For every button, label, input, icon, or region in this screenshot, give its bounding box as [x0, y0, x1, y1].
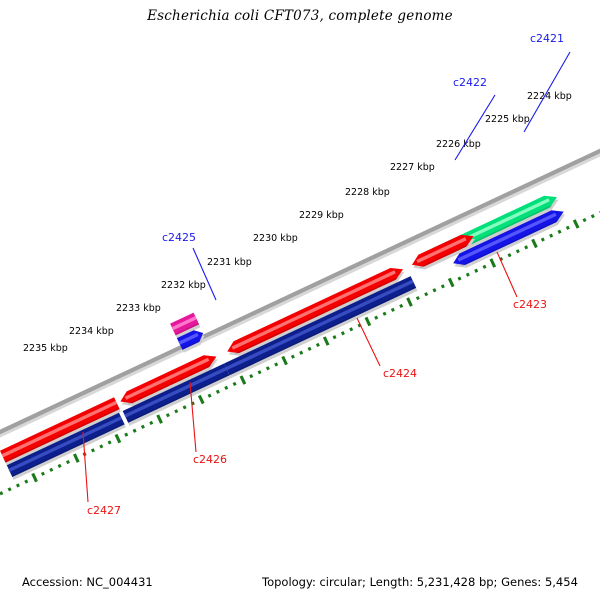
scale-tick-label: 2232 kbp: [161, 280, 206, 291]
scale-tick-label: 2231 kbp: [207, 257, 252, 268]
gene-labels-layer[interactable]: c2421c2422c2425c2423c2424c2426c2427: [87, 32, 564, 517]
scale-tick-label: 2229 kbp: [299, 210, 344, 221]
scale-tick-label: 2228 kbp: [345, 187, 390, 198]
label-leader-line: [497, 252, 517, 297]
accession-text: Accession: NC_004431: [22, 575, 153, 589]
status-bar: Accession: NC_004431 Topology: circular;…: [0, 566, 600, 600]
genome-viewer: Escherichia coli CFT073, complete genome…: [0, 0, 600, 600]
gene-label[interactable]: c2427: [87, 504, 121, 517]
genome-map[interactable]: 2224 kbp2225 kbp2226 kbp2227 kbp2228 kbp…: [0, 0, 600, 600]
scale-tick-label: 2235 kbp: [23, 343, 68, 354]
scale-tick-label: 2225 kbp: [485, 114, 530, 125]
scale-tick-label: 2233 kbp: [116, 303, 161, 314]
gene-label[interactable]: c2425: [162, 231, 196, 244]
gene-label[interactable]: c2422: [453, 76, 487, 89]
label-leader-line: [455, 95, 495, 160]
scale-tick-label: 2224 kbp: [527, 91, 572, 102]
label-leader-line: [193, 248, 216, 300]
genome-metadata-text: Topology: circular; Length: 5,231,428 bp…: [262, 575, 578, 589]
scale-tick-label: 2234 kbp: [69, 326, 114, 337]
scale-tick-label: 2227 kbp: [390, 162, 435, 173]
scale-tick-label: 2226 kbp: [436, 139, 481, 150]
gene-label[interactable]: c2421: [530, 32, 564, 45]
scale-tick-label: 2230 kbp: [253, 233, 298, 244]
gene-label[interactable]: c2426: [193, 453, 227, 466]
gene-label[interactable]: c2424: [383, 367, 417, 380]
gene-label[interactable]: c2423: [513, 298, 547, 311]
